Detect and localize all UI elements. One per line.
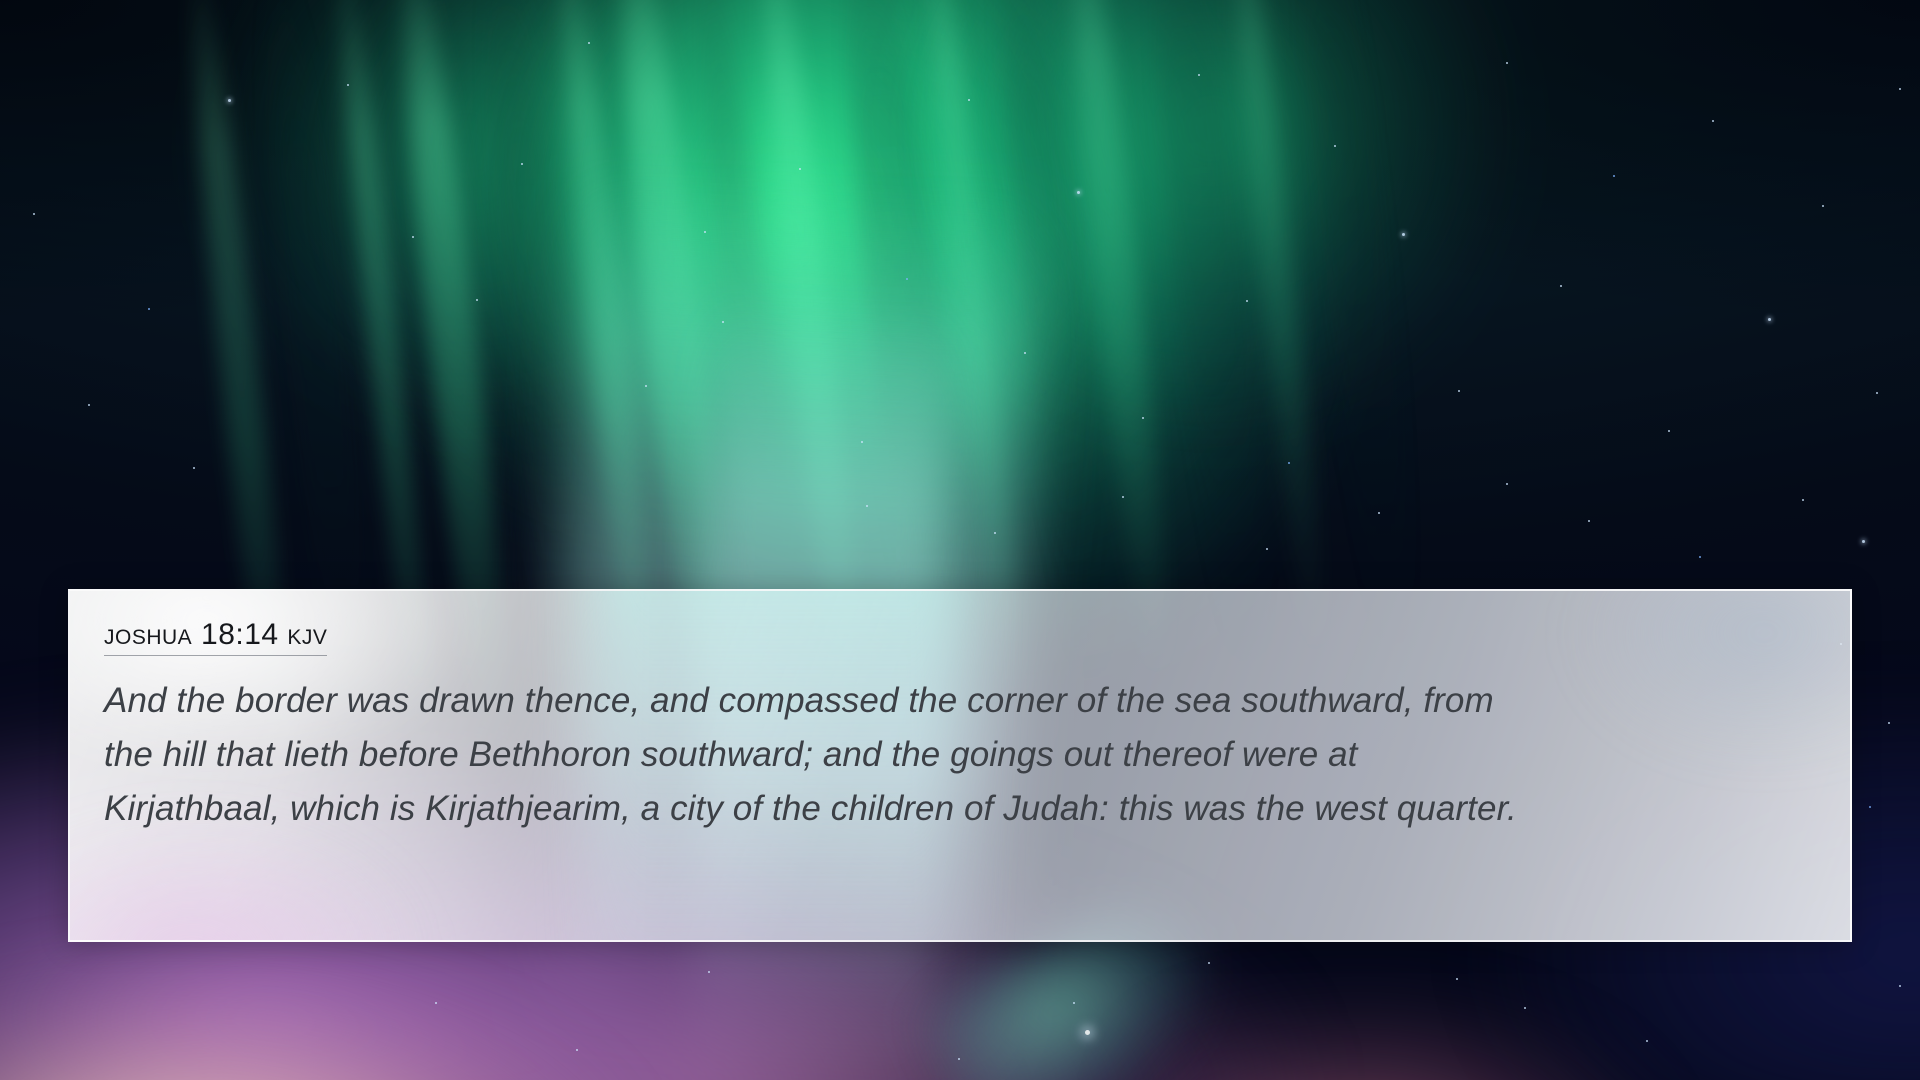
verse-reference: Joshua 18:14 KJV bbox=[104, 619, 327, 656]
verse-body-text: And the border was drawn thence, and com… bbox=[104, 674, 1524, 836]
verse-card: Joshua 18:14 KJV And the border was draw… bbox=[68, 589, 1852, 942]
verse-card-content: Joshua 18:14 KJV And the border was draw… bbox=[70, 591, 1850, 836]
